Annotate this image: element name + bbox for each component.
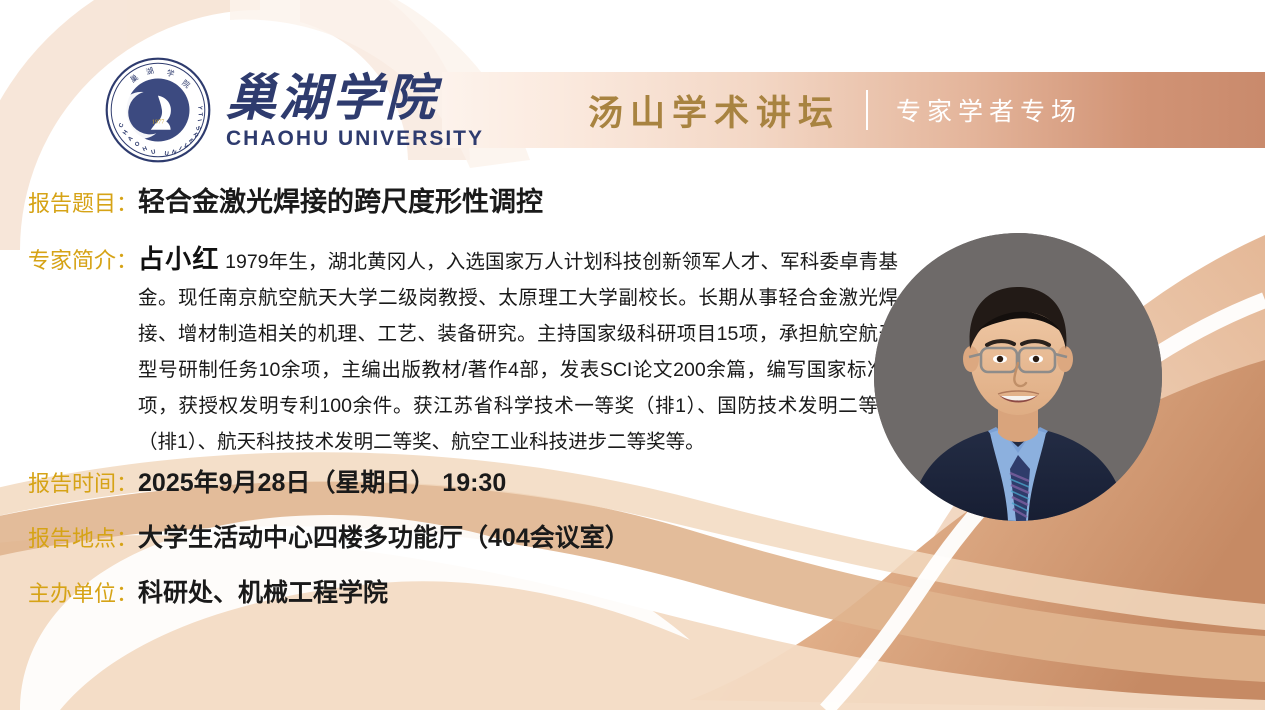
- logo-name-en: CHAOHU UNIVERSITY: [226, 127, 484, 150]
- lecture-poster: 汤山学术讲坛 专家学者专场 1977 巢 湖 学 院 C H A O: [0, 0, 1265, 710]
- topic-label: 报告题目：: [28, 186, 138, 218]
- speaker-name: 占小红: [138, 244, 220, 274]
- svg-text:Y: Y: [196, 105, 202, 110]
- place-value: 大学生活动中心四楼多功能厅（404会议室）: [138, 518, 630, 554]
- university-seal-icon: 1977 巢 湖 学 院 C H A O H U U N I V E R S: [104, 56, 212, 164]
- banner-title: 汤山学术讲坛: [588, 85, 840, 136]
- time-row: 报告时间： 2025年9月28日（星期日） 19:30: [28, 463, 506, 499]
- speaker-bio-block: 占小红 1979年生，湖北黄冈人，入选国家万人计划科技创新领军人才、军科委卓青基…: [138, 241, 898, 460]
- speaker-portrait: [874, 233, 1162, 521]
- header-banner-content: 汤山学术讲坛 专家学者专场: [442, 72, 1265, 148]
- place-label: 报告地点：: [28, 521, 138, 553]
- university-logo: 1977 巢 湖 学 院 C H A O H U U N I V E R S: [104, 56, 484, 164]
- speaker-label: 专家简介：: [28, 243, 138, 275]
- logo-wordmark: 巢湖学院 CHAOHU UNIVERSITY: [226, 71, 484, 150]
- time-label: 报告时间：: [28, 466, 138, 498]
- speaker-row: 专家简介： 占小红 1979年生，湖北黄冈人，入选国家万人计划科技创新领军人才、…: [28, 241, 898, 460]
- host-row: 主办单位： 科研处、机械工程学院: [28, 573, 388, 609]
- topic-value: 轻合金激光焊接的跨尺度形性调控: [138, 180, 543, 219]
- time-value: 2025年9月28日（星期日） 19:30: [138, 463, 506, 499]
- banner-subtitle: 专家学者专场: [896, 92, 1082, 128]
- bottom-wave-pale: [0, 535, 1265, 710]
- place-row: 报告地点： 大学生活动中心四楼多功能厅（404会议室）: [28, 518, 630, 554]
- svg-text:1977: 1977: [152, 119, 165, 126]
- host-label: 主办单位：: [28, 576, 138, 608]
- svg-text:U: U: [164, 151, 169, 158]
- speaker-bio-text: 1979年生，湖北黄冈人，入选国家万人计划科技创新领军人才、军科委卓青基金。现任…: [138, 251, 898, 453]
- speaker-portrait-image: [874, 233, 1162, 521]
- topic-row: 报告题目： 轻合金激光焊接的跨尺度形性调控: [28, 180, 543, 219]
- banner-divider: [866, 90, 868, 130]
- logo-name-cn: 巢湖学院: [226, 71, 484, 125]
- host-value: 科研处、机械工程学院: [138, 573, 388, 609]
